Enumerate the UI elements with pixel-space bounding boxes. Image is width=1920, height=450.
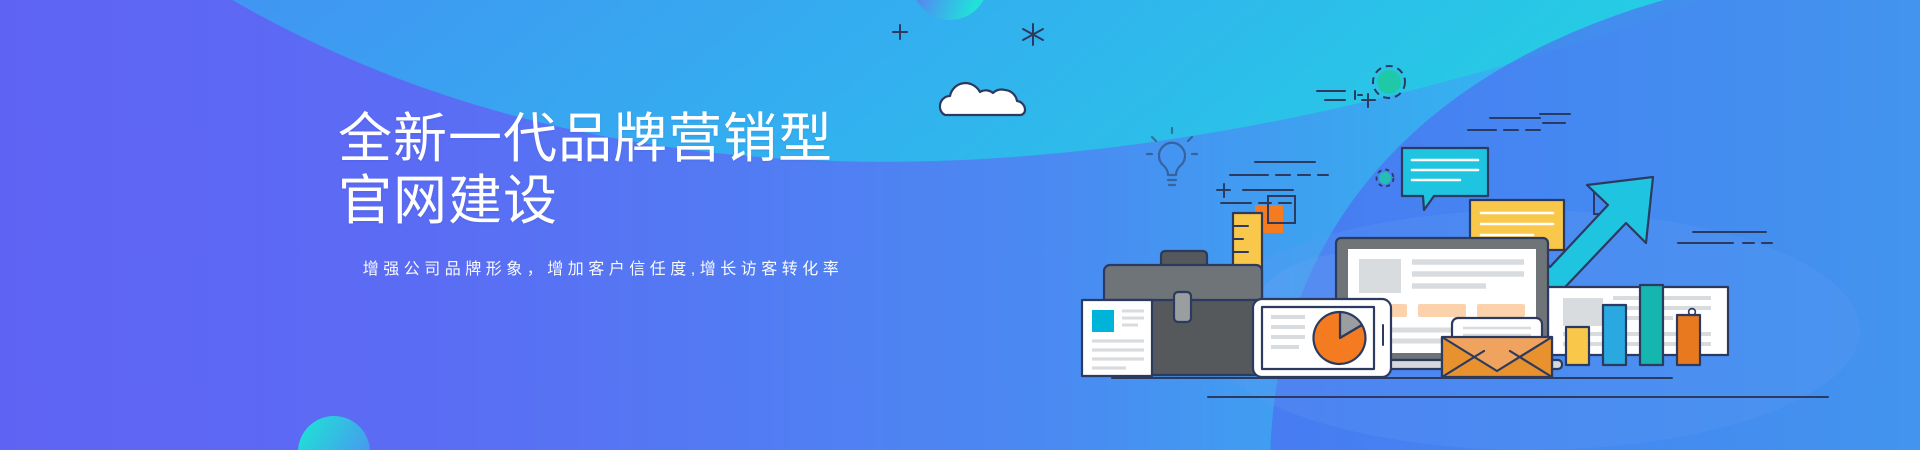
bar-chart-sheet bbox=[1548, 285, 1728, 365]
dash-line-group-c bbox=[1468, 118, 1540, 130]
plus-mark-right bbox=[1362, 94, 1375, 107]
cloud-icon bbox=[940, 83, 1025, 115]
dash-line-group-f bbox=[1540, 114, 1570, 123]
banner-subtitle: 增强公司品牌形象，增加客户信任度,增长访客转化率 bbox=[338, 258, 898, 282]
banner-copy: 全新一代品牌营销型 官网建设 增强公司品牌形象，增加客户信任度,增长访客转化率 bbox=[338, 108, 898, 282]
dash-line-group-a bbox=[1317, 91, 1362, 100]
lightbulb-icon bbox=[1147, 128, 1197, 185]
tablet-pie-chart bbox=[1253, 299, 1391, 377]
dash-line-group-e bbox=[1678, 232, 1772, 243]
envelope-letter bbox=[1442, 318, 1552, 377]
small-dashed-circle-teal bbox=[1377, 170, 1394, 187]
dash-line-group-b bbox=[1230, 162, 1328, 175]
asterisk-mark bbox=[1023, 24, 1043, 45]
plus-mark-left bbox=[893, 25, 907, 39]
document-sheet bbox=[1082, 300, 1152, 376]
hero-banner: 全新一代品牌营销型 官网建设 增强公司品牌形象，增加客户信任度,增长访客转化率 … bbox=[0, 0, 1920, 450]
dashed-circle-teal bbox=[1373, 66, 1405, 98]
office-devices-analytics-illustration: .ol { stroke:#2b3a5e; stroke-width:2.2; … bbox=[0, 0, 1920, 450]
page-title: 全新一代品牌营销型 官网建设 bbox=[338, 108, 898, 232]
plus-mark-mid bbox=[1217, 184, 1230, 197]
